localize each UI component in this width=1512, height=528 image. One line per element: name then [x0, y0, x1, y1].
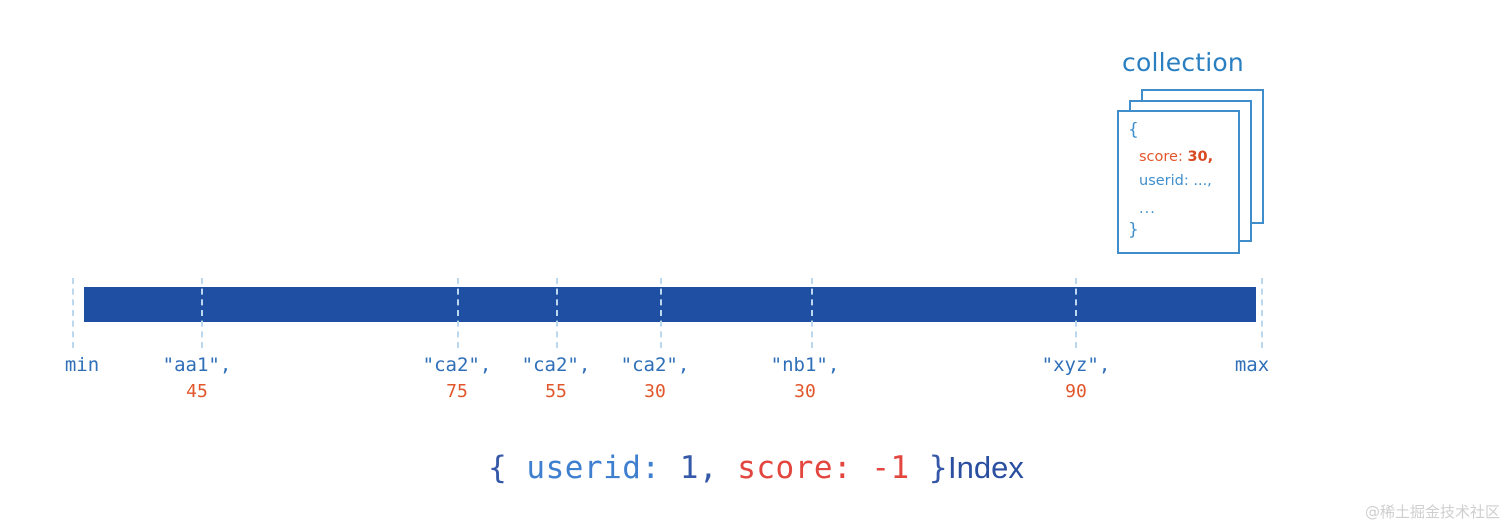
index-caption: { userid: 1, score: -1 }Index [0, 450, 1512, 486]
axis-label-value: 75 [423, 377, 492, 407]
collection-group: collection { score: 30, userid: ..., ...… [1112, 48, 1302, 263]
caption-index-word: Index [948, 450, 1024, 485]
axis-label-key: "aa1", [163, 353, 232, 377]
caption-score-value: -1 [871, 450, 909, 486]
document-open-brace: { [1128, 122, 1139, 139]
caption-close-brace: } [910, 450, 948, 486]
caption-open-brace: { [488, 450, 526, 486]
axis-label-key: "ca2", [522, 353, 591, 377]
caption-userid-value: 1 [680, 450, 699, 486]
index-bar [84, 287, 1256, 322]
axis-label: "ca2",30 [621, 353, 690, 407]
axis-label: "ca2",75 [423, 353, 492, 407]
caption-userid-key: userid: [526, 450, 679, 486]
axis-label-key: "ca2", [423, 353, 492, 377]
axis-label: min [65, 353, 99, 377]
watermark: @稀土掘金技术社区 [1365, 501, 1500, 522]
axis-label-value: 30 [771, 377, 840, 407]
tick-mark [556, 278, 558, 348]
document-body: { score: 30, userid: ..., ... } [1119, 112, 1238, 252]
axis-label-value: 55 [522, 377, 591, 407]
document-close-brace: } [1128, 222, 1139, 239]
axis-label-value: 90 [1042, 377, 1111, 407]
axis-label: "xyz",90 [1042, 353, 1111, 407]
tick-mark [1075, 278, 1077, 348]
tick-mark [457, 278, 459, 348]
document-score-value: 30, [1187, 149, 1213, 165]
tick-mark [660, 278, 662, 348]
tick-mark [201, 278, 203, 348]
collection-title: collection [1122, 48, 1244, 77]
document-ellipsis: ... [1139, 202, 1156, 217]
axis-label: "nb1",30 [771, 353, 840, 407]
axis-label: max [1235, 353, 1269, 377]
tick-mark [72, 278, 74, 348]
axis-label-key: "xyz", [1042, 353, 1111, 377]
axis-label: "ca2",55 [522, 353, 591, 407]
tick-mark [1261, 278, 1263, 348]
axis-label-value: 45 [163, 377, 232, 407]
diagram-canvas: collection { score: 30, userid: ..., ...… [0, 0, 1512, 528]
document-score-key: score: [1139, 149, 1187, 165]
axis-label-key: "nb1", [771, 353, 840, 377]
axis-label: "aa1",45 [163, 353, 232, 407]
caption-separator: , [699, 450, 737, 486]
document-userid-line: userid: ..., [1139, 174, 1212, 189]
axis-label-key: min [65, 353, 99, 377]
document-card-front: { score: 30, userid: ..., ... } [1117, 110, 1240, 254]
axis-label-key: max [1235, 353, 1269, 377]
axis-label-key: "ca2", [621, 353, 690, 377]
caption-score-key: score: [737, 450, 871, 486]
document-score-line: score: 30, [1139, 150, 1213, 165]
tick-mark [811, 278, 813, 348]
axis-label-value: 30 [621, 377, 690, 407]
